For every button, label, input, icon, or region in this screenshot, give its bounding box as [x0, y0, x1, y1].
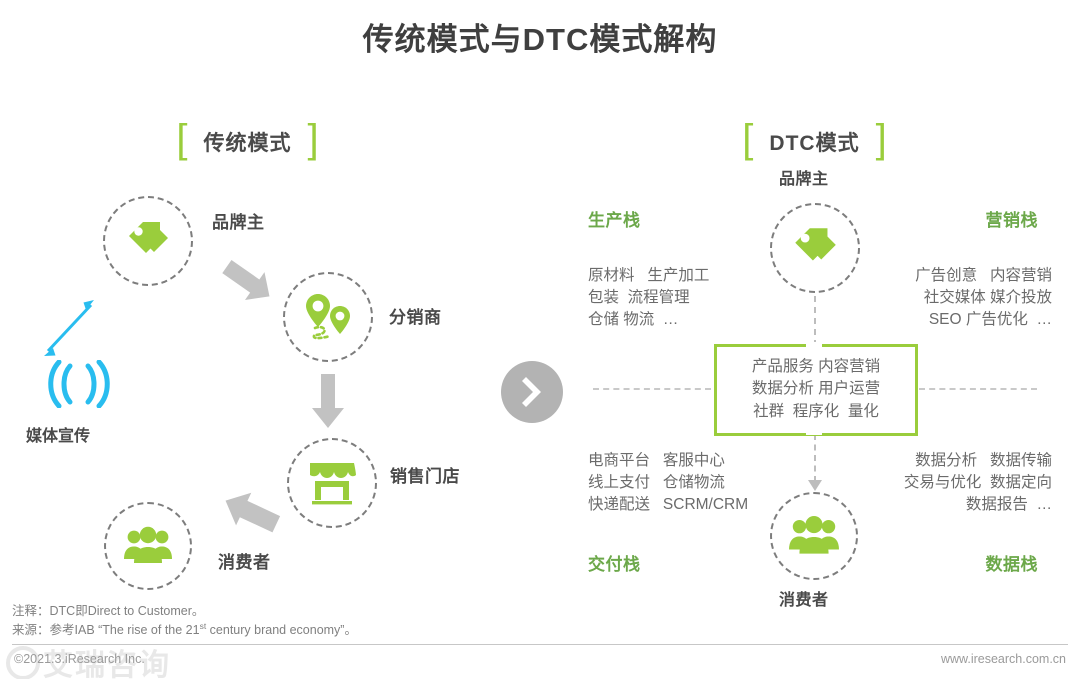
connector-left-stacks [593, 388, 711, 390]
website-url[interactable]: www.iresearch.com.cn [941, 652, 1066, 666]
box-gap-bottom [806, 430, 822, 435]
bracket-left-icon: [ [176, 119, 187, 159]
price-tag-icon [789, 222, 841, 274]
price-tag-icon [123, 216, 173, 266]
arrow-distributor-to-store [310, 370, 346, 437]
stack-items-delivery: 电商平台 客服中心 线上支付 仓储物流 快递配送 SCRM/CRM [588, 450, 748, 516]
section-header-dtc: [DTC模式] [712, 122, 917, 162]
node-label-retail-store: 销售门店 [390, 462, 460, 487]
node-retail-store[interactable] [287, 438, 377, 528]
bracket-right-icon: ] [876, 119, 887, 159]
section-header-traditional: [传统模式] [140, 122, 355, 162]
node-consumer-dtc[interactable] [770, 492, 858, 580]
arrow-store-to-consumer [215, 488, 285, 541]
stack-label-data: 数据栈 [986, 550, 1039, 575]
footnote-source-pre: 参考IAB “The rise of the 21 [50, 623, 200, 637]
storefront-icon [306, 460, 358, 506]
node-consumer-traditional[interactable] [104, 502, 192, 590]
footnote-note-text: DTC即Direct to Customer。 [50, 604, 205, 618]
people-group-icon [123, 526, 173, 566]
section-title-dtc: DTC模式 [753, 127, 875, 157]
connector-right-stacks [919, 388, 1037, 390]
arrow-brand-to-distributor [216, 256, 282, 313]
page-title: 传统模式与DTC模式解构 [0, 14, 1080, 59]
box-gap-top [806, 342, 822, 347]
node-label-consumer-dtc: 消费者 [779, 586, 829, 610]
stack-items-production: 原材料 生产加工 包装 流程管理 仓储 物流 … [588, 265, 709, 331]
node-brand-owner-traditional[interactable] [103, 196, 193, 286]
broadcast-waves-icon [44, 360, 114, 413]
node-distributor[interactable] [283, 272, 373, 362]
copyright-text: ©2021.3.iResearch Inc. [14, 652, 145, 666]
map-pins-route-icon [301, 292, 355, 342]
media-feedback-arrow-icon [36, 296, 106, 365]
infographic-page: 传统模式与DTC模式解构 [传统模式] 品牌主 分销商 [0, 0, 1080, 679]
stack-items-marketing: 广告创意 内容营销 社交媒体 媒介投放 SEO 广告优化 … [915, 265, 1052, 331]
people-group-icon [788, 515, 840, 557]
footnote-note: 注释：DTC即Direct to Customer。 [12, 600, 204, 619]
stack-label-production: 生产栈 [588, 206, 641, 231]
node-label-brand-owner-dtc: 品牌主 [779, 165, 829, 189]
connector-brand-to-center [814, 296, 816, 346]
connector-center-to-consumer [814, 434, 816, 482]
media-label: 媒体宣传 [26, 422, 90, 446]
node-brand-owner-dtc[interactable] [770, 203, 860, 293]
footer-divider [12, 644, 1068, 645]
footnote-source-post: century brand economy”。 [206, 623, 357, 637]
footnote-source: 来源：参考IAB “The rise of the 21st century b… [12, 619, 357, 638]
node-label-brand-owner: 品牌主 [212, 208, 265, 233]
section-transition-arrow [501, 361, 563, 423]
stack-label-delivery: 交付栈 [588, 550, 641, 575]
bracket-left-icon: [ [742, 119, 753, 159]
footnote-source-label: 来源： [12, 623, 50, 637]
stack-items-data: 数据分析 数据传输 交易与优化 数据定向 数据报告 … [904, 450, 1052, 516]
node-label-distributor: 分销商 [389, 303, 442, 328]
stack-label-marketing: 营销栈 [986, 206, 1039, 231]
footnote-note-label: 注释： [12, 604, 50, 618]
section-title-traditional: 传统模式 [188, 127, 308, 157]
bracket-right-icon: ] [308, 119, 319, 159]
node-label-consumer-traditional: 消费者 [218, 548, 271, 573]
dtc-core-capabilities-box: 产品服务 内容营销 数据分析 用户运营 社群 程序化 量化 [714, 344, 918, 436]
chevron-right-icon [501, 361, 563, 423]
